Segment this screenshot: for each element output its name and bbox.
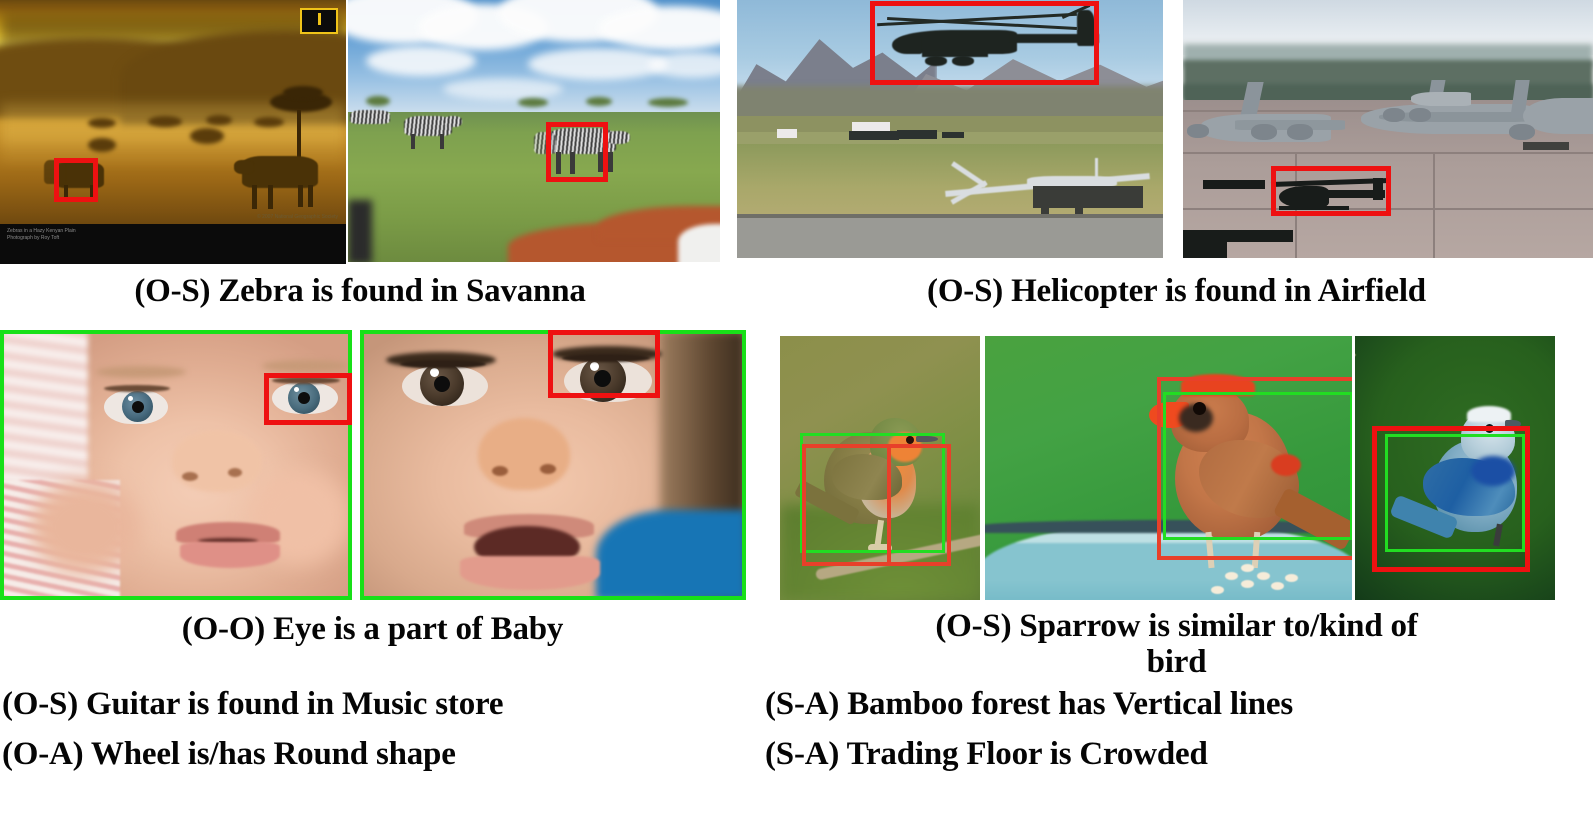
- caption-sparrow-line1: (O-S) Sparrow is similar to/kind of: [760, 608, 1593, 644]
- panel-baby-1: [0, 330, 352, 600]
- detection-box-helicopter: [870, 1, 1099, 85]
- zebra-head: [444, 116, 462, 127]
- caption-sparrow-line2: bird: [760, 644, 1593, 680]
- plane-engine: [1509, 124, 1535, 140]
- panel-bird-robin: [780, 336, 980, 600]
- runway-tarmac: [737, 218, 1163, 258]
- plane-engine: [1409, 108, 1431, 122]
- zebra-right-head: [234, 160, 254, 174]
- ground-vehicle: [1523, 142, 1569, 150]
- tree-line: [648, 98, 688, 107]
- distant-bush: [254, 117, 284, 127]
- caption-guitar: (O-S) Guitar is found in Music store: [2, 684, 762, 724]
- dark-vehicle: [897, 130, 937, 139]
- detection-box-helicopter: [1271, 166, 1391, 216]
- panel-airfield-heli-air: [737, 0, 1163, 258]
- zebra-leg: [411, 134, 415, 149]
- panel-airfield-tarmac: [1183, 0, 1593, 258]
- nat-geo-caption-line2: Photograph by Roy Toft: [7, 235, 76, 242]
- seed: [1257, 572, 1270, 580]
- helicopter-background: [1203, 180, 1265, 189]
- zebra-right: [242, 156, 318, 188]
- zebra-leg: [440, 134, 444, 149]
- caption-trading: (S-A) Trading Floor is Crowded: [765, 734, 1593, 774]
- bush: [190, 128, 224, 144]
- caption-eye: (O-O) Eye is a part of Baby: [0, 610, 745, 648]
- uav-launcher: [1033, 186, 1143, 208]
- zebra-leg: [252, 185, 257, 209]
- detection-box-eye: [264, 373, 352, 425]
- detection-box-eye: [548, 330, 660, 398]
- bush: [88, 138, 116, 152]
- detection-box-zebra: [546, 122, 608, 182]
- tarmac-seam: [1433, 154, 1435, 258]
- nat-geo-caption: Zebras in a Hazy Kenyan Plain Photograph…: [7, 228, 76, 242]
- figure-canvas: Zebras in a Hazy Kenyan Plain Photograph…: [0, 0, 1593, 815]
- zebra-group: [350, 110, 390, 124]
- caption-helicopter: (O-S) Helicopter is found in Airfield: [760, 272, 1593, 310]
- caption-bamboo: (S-A) Bamboo forest has Vertical lines: [765, 684, 1593, 724]
- panel-savanna-sunset: Zebras in a Hazy Kenyan Plain Photograph…: [0, 0, 346, 264]
- zebra-leg: [608, 152, 613, 172]
- uav-antenna: [1095, 158, 1098, 180]
- helicopter-background: [1183, 240, 1227, 258]
- bird-cap: [1467, 406, 1511, 422]
- detection-box-bird-b: [802, 444, 951, 566]
- cloud: [528, 48, 668, 80]
- distant-bush: [88, 118, 116, 128]
- cloud: [443, 78, 563, 100]
- seed: [1225, 572, 1238, 580]
- uav-launcher-leg: [1041, 196, 1049, 214]
- tarmac-seam: [1183, 152, 1593, 154]
- plane-engine: [1187, 124, 1209, 138]
- seed: [1271, 582, 1284, 590]
- nat-geo-caption-line1: Zebras in a Hazy Kenyan Plain: [7, 228, 76, 235]
- groundtruth-box-baby: [0, 330, 352, 600]
- tree-line: [518, 98, 548, 107]
- tree-line: [366, 96, 390, 106]
- caption-wheel: (O-A) Wheel is/has Round shape: [2, 734, 762, 774]
- acacia-canopy: [283, 86, 323, 99]
- detection-box-bird: [1157, 377, 1352, 560]
- plane-engine: [1383, 108, 1405, 122]
- distant-bush: [148, 116, 182, 127]
- tree-line: [586, 97, 612, 106]
- acacia-trunk: [297, 110, 301, 158]
- seed: [1211, 586, 1224, 594]
- plane-engine: [1287, 124, 1313, 140]
- seed: [1241, 580, 1254, 588]
- panel-baby-2: [360, 330, 746, 600]
- white-truck: [777, 129, 797, 138]
- detection-box-zebra: [54, 158, 98, 202]
- distant-bush: [206, 115, 232, 125]
- dark-vehicle: [942, 132, 964, 138]
- copyright-text: © 2007 National Geographic Society: [257, 214, 338, 220]
- panel-bird-tanager: [1355, 336, 1555, 600]
- panel-savanna-green: [348, 0, 720, 262]
- vehicle-edge: [348, 200, 372, 262]
- zebra-leg: [308, 185, 313, 207]
- seed: [1241, 564, 1254, 572]
- cloud: [366, 46, 476, 76]
- panel-bird-cardinal: [985, 336, 1352, 600]
- caption-zebra: (O-S) Zebra is found in Savanna: [0, 272, 720, 310]
- zebra-boxed-head: [606, 131, 630, 144]
- zebra-leg: [298, 185, 303, 207]
- plane-far: [1411, 92, 1471, 106]
- plane-engine: [1251, 124, 1277, 140]
- seed: [1285, 574, 1298, 582]
- detection-box-bird: [1372, 426, 1530, 572]
- zebra-leg: [268, 185, 273, 209]
- nat-geo-logo-icon: [300, 8, 338, 34]
- uav-launcher-leg: [1075, 196, 1083, 214]
- dark-vehicle: [849, 131, 899, 140]
